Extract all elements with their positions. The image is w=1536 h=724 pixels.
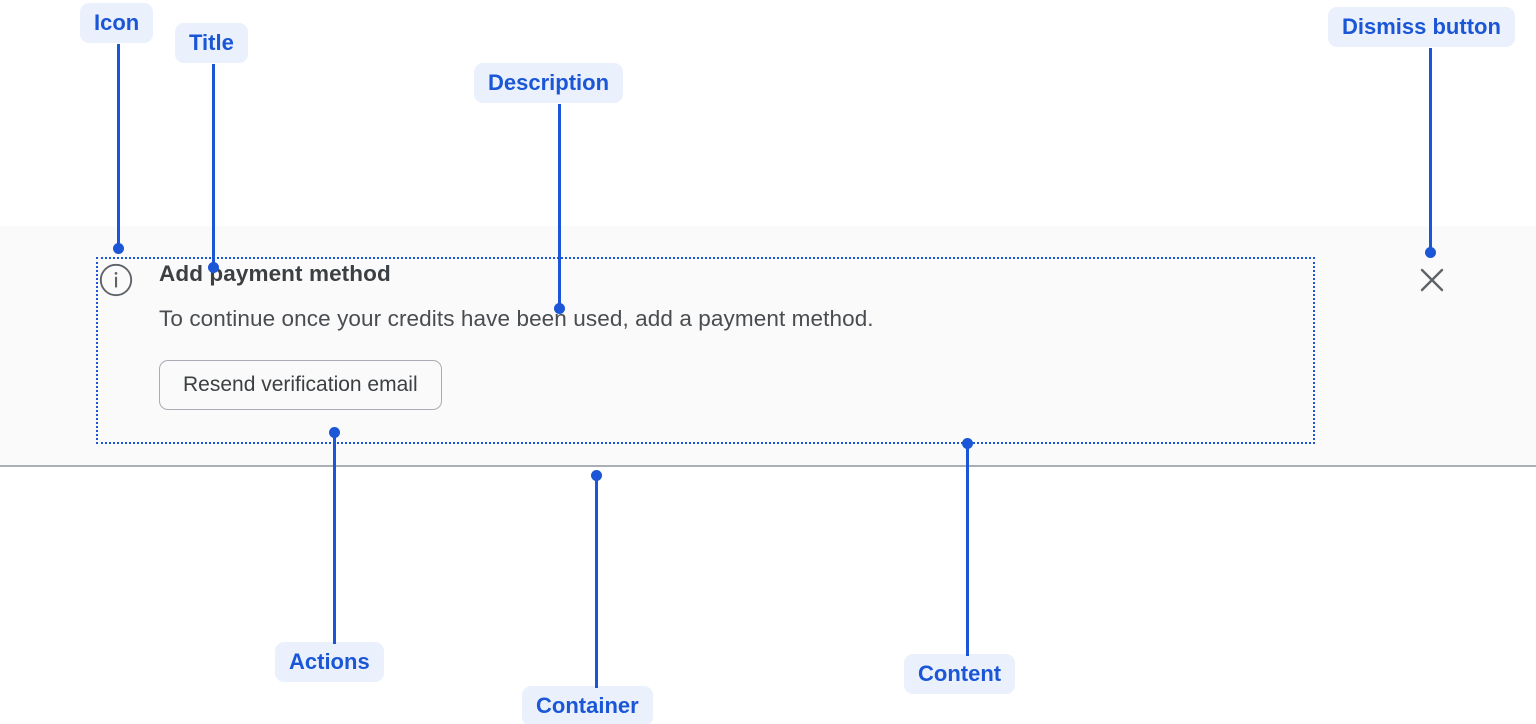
annotation-label-actions: Actions [275,642,384,682]
annotation-leader-content [966,448,969,656]
info-circle-icon [99,263,133,297]
notification-actions: Resend verification email [159,360,1309,410]
annotation-label-description: Description [474,63,623,103]
annotation-leader-container [595,480,598,688]
annotation-leader-icon [117,44,120,248]
resend-verification-email-button[interactable]: Resend verification email [159,360,442,410]
notification-content: Add payment method To continue once your… [159,259,1309,410]
annotation-label-content: Content [904,654,1015,694]
notification-description: To continue once your credits have been … [159,304,1309,334]
notification-title: Add payment method [159,259,1309,289]
annotation-leader-actions [333,436,336,644]
close-icon [1414,262,1450,298]
dismiss-button[interactable] [1414,262,1450,298]
annotation-label-container: Container [522,686,653,724]
annotation-dot-container [591,470,602,481]
annotation-label-title: Title [175,23,248,63]
annotation-label-icon: Icon [80,3,153,43]
annotation-label-dismiss: Dismiss button [1328,7,1515,47]
annotated-component-diagram: Add payment method To continue once your… [0,0,1536,724]
annotation-leader-dismiss [1429,48,1432,252]
